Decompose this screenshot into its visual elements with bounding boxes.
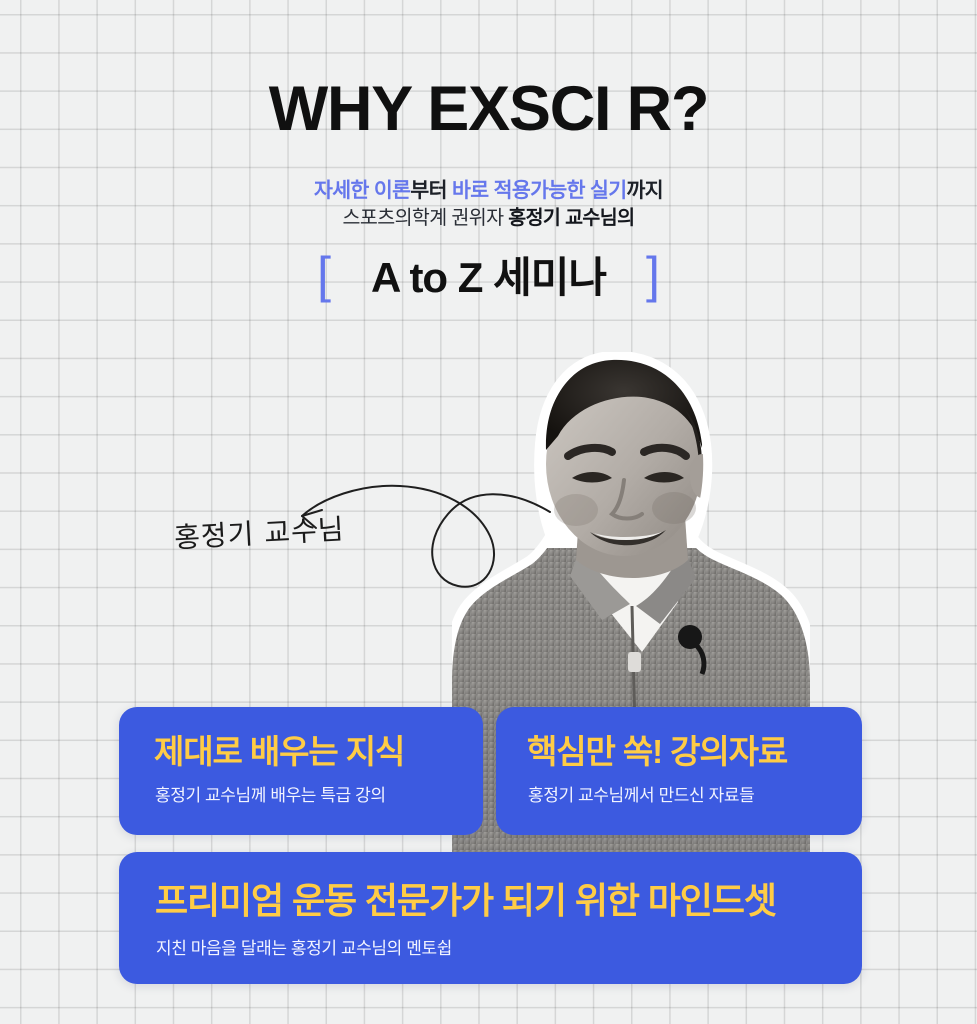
bracket-left-icon: [ — [317, 250, 331, 300]
subtitle-plain-2: 까지 — [627, 179, 664, 202]
subtitle-professor-name: 홍정기 교수님의 — [508, 207, 634, 229]
subtitle-block: 자세한 이론부터 바로 적용가능한 실기까지 스포츠의학계 권위자 홍정기 교수… — [0, 176, 977, 233]
feature-card-mindset[interactable]: 프리미엄 운동 전문가가 되기 위한 마인드셋 지친 마음을 달래는 홍정기 교… — [119, 852, 862, 984]
card-title: 프리미엄 운동 전문가가 되기 위한 마인드셋 — [155, 883, 776, 919]
subtitle-accent-practice: 바로 적용가능한 실기 — [452, 179, 627, 202]
page-title: WHY EXSCI R? — [0, 78, 977, 141]
seminar-title: A to Z 세미나 — [371, 257, 606, 299]
subtitle-plain-1: 부터 — [410, 179, 452, 202]
feature-card-materials[interactable]: 핵심만 쏙! 강의자료 홍정기 교수님께서 만드신 자료들 — [496, 707, 862, 835]
bracket-right-icon: ] — [646, 250, 660, 300]
card-subtitle: 홍정기 교수님께서 만드신 자료들 — [528, 787, 754, 804]
subtitle-prefix: 스포츠의학계 권위자 — [343, 207, 509, 229]
card-title: 제대로 배우는 지식 — [154, 735, 404, 768]
card-title: 핵심만 쏙! 강의자료 — [527, 735, 787, 768]
feature-card-knowledge[interactable]: 제대로 배우는 지식 홍정기 교수님께 배우는 특급 강의 — [119, 707, 483, 835]
card-subtitle: 홍정기 교수님께 배우는 특급 강의 — [155, 787, 386, 804]
promo-poster: WHY EXSCI R? 자세한 이론부터 바로 적용가능한 실기까지 스포츠의… — [0, 0, 977, 1024]
card-subtitle: 지친 마음을 달래는 홍정기 교수님의 멘토쉽 — [156, 940, 452, 957]
seminar-title-row: [ A to Z 세미나 ] — [0, 253, 977, 303]
subtitle-accent-theory: 자세한 이론 — [314, 179, 410, 202]
subtitle-line-2: 스포츠의학계 권위자 홍정기 교수님의 — [0, 205, 977, 233]
subtitle-line-1: 자세한 이론부터 바로 적용가능한 실기까지 — [0, 176, 977, 205]
handwritten-annotation: 홍정기 교수님 — [150, 470, 570, 600]
